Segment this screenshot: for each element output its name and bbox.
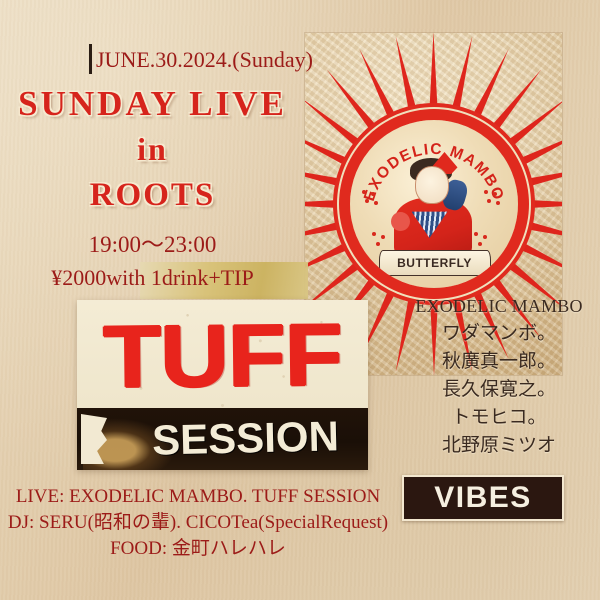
exodelic-mambo-medallion: EXODELIC MAMBO (350, 120, 518, 288)
geisha-illustration (382, 156, 486, 260)
band-member-5: 北野原ミツオ (404, 432, 594, 460)
band-member-1: ワダマンボ。 (404, 320, 594, 348)
title-line-in: in (0, 131, 305, 168)
event-time: 19:00〜23:00 (0, 225, 305, 259)
geisha-face (415, 166, 449, 204)
butterfly-banner: BUTTERFLY (379, 250, 491, 276)
tuff-poster-bottom-half: SESSION (77, 408, 368, 470)
credits-block: LIVE: EXODELIC MAMBO. TUFF SESSION DJ: S… (0, 484, 396, 562)
title-line-sunday-live: SUNDAY LIVE (0, 84, 305, 124)
band-member-4: トモヒコ。 (404, 404, 594, 432)
vibes-venue-logo: VIBES (402, 475, 564, 521)
band-member-list: EXODELIC MAMBO ワダマンボ。 秋廣真一郎。 長久保寛之。 トモヒコ… (404, 292, 594, 460)
dot-cluster-left (362, 190, 384, 212)
band-member-2: 秋廣真一郎。 (404, 348, 594, 376)
credit-line-dj: DJ: SERU(昭和の輩). CICOTea(SpecialRequest) (0, 510, 396, 536)
event-date: JUNE.30.2024.(Sunday) (96, 47, 313, 73)
credit-line-food: FOOD: 金町ハレハレ (0, 536, 396, 562)
flyer-poster: EXODELIC MAMBO (0, 0, 600, 600)
credit-line-live: LIVE: EXODELIC MAMBO. TUFF SESSION (0, 484, 396, 510)
title-line-roots: ROOTS (0, 177, 305, 214)
tuff-poster-top-half: TUFF (77, 300, 368, 412)
dot-cluster-right (484, 190, 506, 212)
tuff-wordmark: TUFF (103, 311, 342, 401)
geisha-sun-motif (391, 212, 410, 231)
band-name-label: EXODELIC MAMBO (404, 292, 594, 320)
session-wordmark: SESSION (77, 412, 368, 467)
tuff-session-poster: TUFF SESSION (77, 300, 368, 470)
text-caret-mark (89, 44, 92, 74)
butterfly-banner-label: BUTTERFLY (397, 256, 472, 270)
band-member-3: 長久保寛之。 (404, 376, 594, 404)
vibes-label: VIBES (434, 481, 532, 515)
event-price: ¥2000with 1drink+TIP (0, 265, 305, 291)
